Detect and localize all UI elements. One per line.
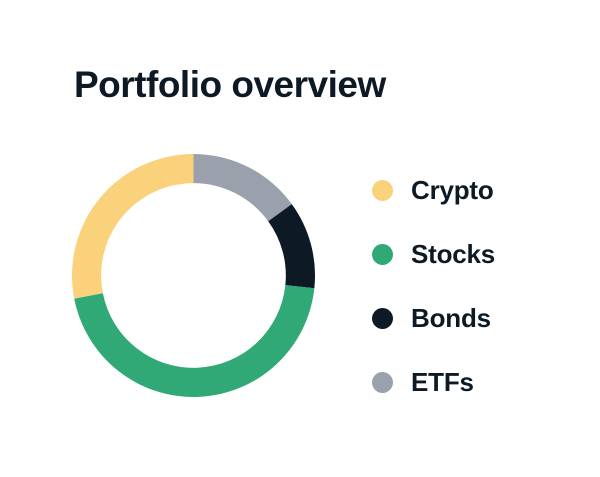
donut-slice-crypto[interactable] — [72, 154, 194, 299]
legend-swatch-icon — [372, 372, 393, 393]
legend-swatch-icon — [372, 244, 393, 265]
page-title: Portfolio overview — [74, 63, 386, 107]
legend-item-label: Stocks — [411, 241, 495, 267]
legend-item-label: ETFs — [411, 369, 474, 395]
donut-slice-bonds[interactable] — [268, 204, 315, 288]
legend-item-label: Crypto — [411, 177, 494, 203]
legend-item-bonds[interactable]: Bonds — [372, 286, 552, 350]
legend-item-stocks[interactable]: Stocks — [372, 222, 552, 286]
legend-item-label: Bonds — [411, 305, 491, 331]
legend-swatch-icon — [372, 180, 393, 201]
legend: CryptoStocksBondsETFs — [372, 158, 552, 414]
donut-chart — [72, 154, 315, 397]
legend-swatch-icon — [372, 308, 393, 329]
portfolio-overview-chart-card: Portfolio overview CryptoStocksBondsETFs — [0, 0, 600, 477]
legend-item-crypto[interactable]: Crypto — [372, 158, 552, 222]
donut-slice-group — [72, 154, 315, 397]
donut-chart-svg — [72, 154, 315, 397]
donut-slice-stocks[interactable] — [74, 285, 314, 397]
donut-slice-etfs[interactable] — [194, 154, 292, 221]
legend-item-etfs[interactable]: ETFs — [372, 350, 552, 414]
